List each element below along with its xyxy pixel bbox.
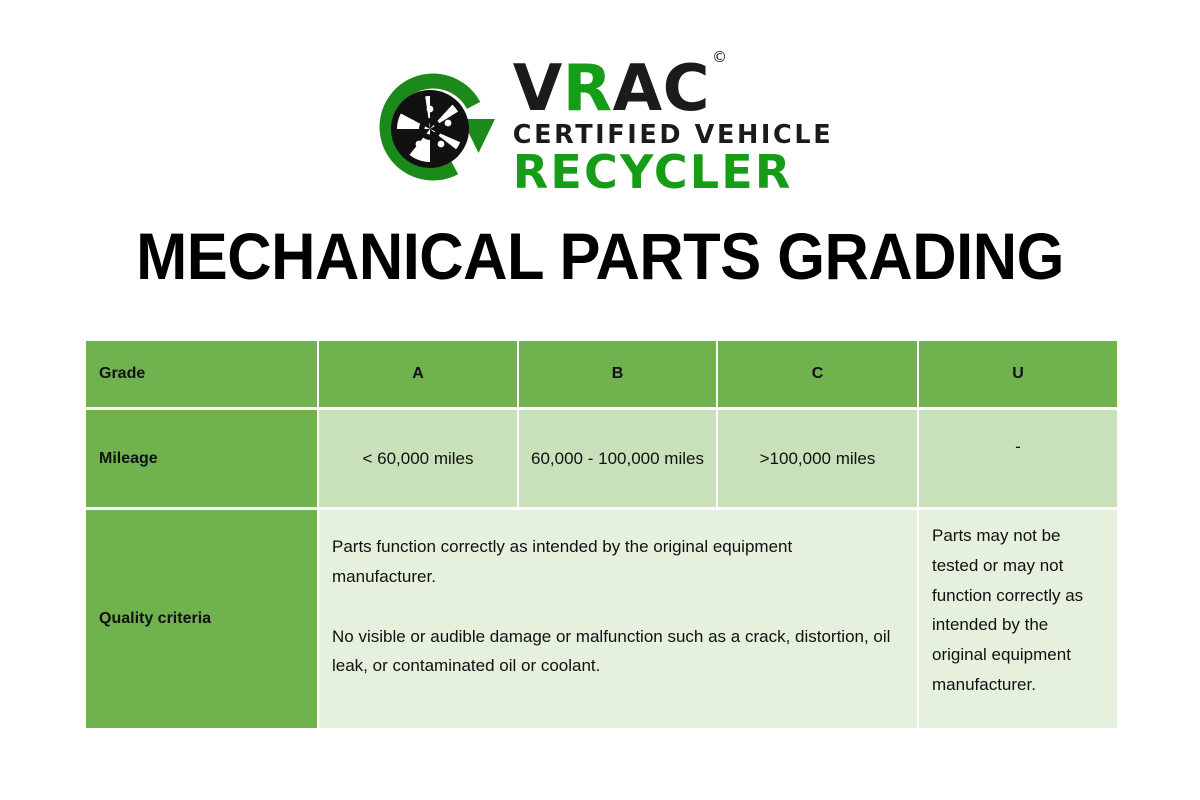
logo-wordmark: VRAC© <box>513 59 726 120</box>
mechanical-parts-grading-table: Grade A B C U Mileage < 60,000 miles 60,… <box>86 341 1117 728</box>
header-cell-grade-b: B <box>519 341 716 407</box>
row-label-quality-criteria: Quality criteria <box>86 510 317 728</box>
wordmark-letters-ac: AC <box>613 52 711 126</box>
logo-text-block: VRAC© CERTIFIED VEHICLE RECYCLER <box>513 59 833 195</box>
copyright-icon: © <box>712 48 728 66</box>
wordmark-letter-r: R <box>563 52 613 126</box>
cell-mileage-u: - <box>919 410 1117 507</box>
logo-recycler-word: RECYCLER <box>513 149 793 195</box>
wordmark-letter-v: V <box>513 52 563 126</box>
quality-paragraph-1: Parts function correctly as intended by … <box>332 532 893 592</box>
recycling-arrow-wheel-icon <box>367 61 499 193</box>
row-label-mileage: Mileage <box>86 410 317 507</box>
cell-quality-abc: Parts function correctly as intended by … <box>319 510 917 728</box>
header-cell-grade-c: C <box>718 341 917 407</box>
cell-quality-u: Parts may not be tested or may not funct… <box>919 510 1117 728</box>
logo-inner: VRAC© CERTIFIED VEHICLE RECYCLER <box>367 59 833 195</box>
header-cell-grade-u: U <box>919 341 1117 407</box>
header-cell-grade: Grade <box>86 341 317 407</box>
table-header-row: Grade A B C U <box>86 341 1117 407</box>
brand-logo: VRAC© CERTIFIED VEHICLE RECYCLER <box>0 52 1200 202</box>
cell-mileage-c: >100,000 miles <box>718 410 917 507</box>
table-row-quality-criteria: Quality criteria Parts function correctl… <box>86 510 1117 728</box>
header-cell-grade-a: A <box>319 341 517 407</box>
table-row-mileage: Mileage < 60,000 miles 60,000 - 100,000 … <box>86 410 1117 507</box>
cell-mileage-b: 60,000 - 100,000 miles <box>519 410 716 507</box>
cell-mileage-a: < 60,000 miles <box>319 410 517 507</box>
page-title: MECHANICAL PARTS GRADING <box>42 218 1158 294</box>
quality-u-paragraph: Parts may not be tested or may not funct… <box>932 521 1101 700</box>
quality-paragraph-2: No visible or audible damage or malfunct… <box>332 622 893 682</box>
